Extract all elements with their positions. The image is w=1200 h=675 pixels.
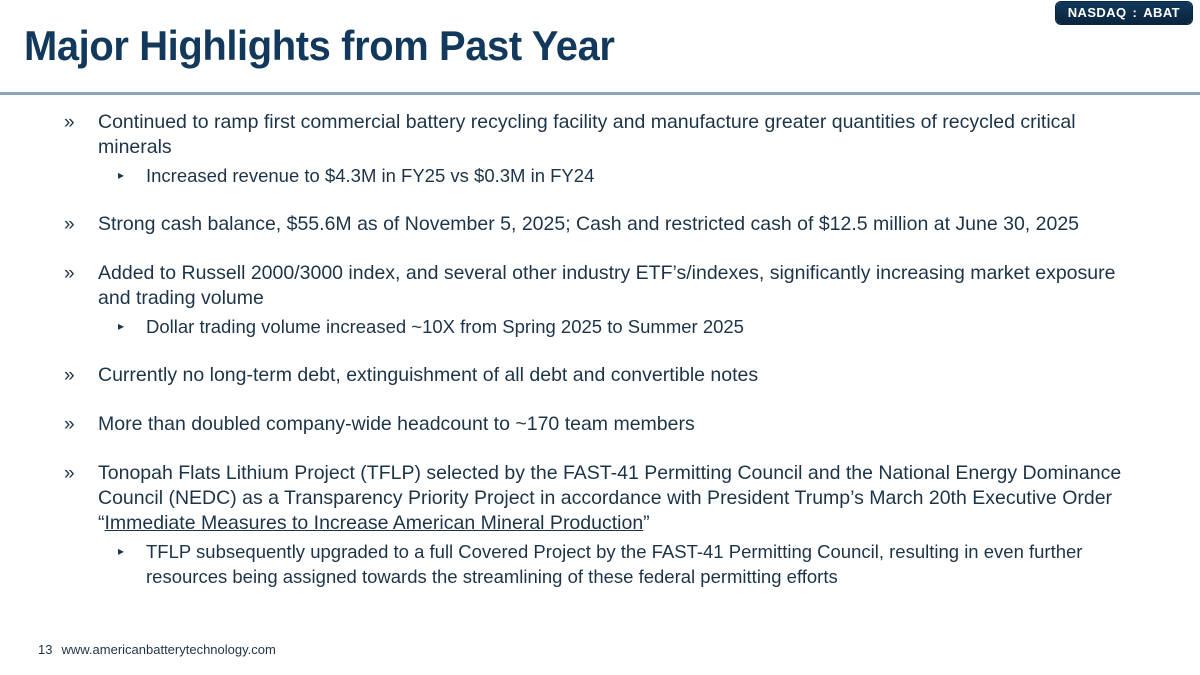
slide-footer: 13 www.americanbatterytechnology.com: [38, 642, 276, 657]
ticker-symbol-label: ABAT: [1143, 6, 1180, 19]
ticker-exchange-label: NASDAQ: [1068, 6, 1127, 19]
sub-bullet-text: TFLP subsequently upgraded to a full Cov…: [146, 539, 1152, 589]
bullet-text: Added to Russell 2000/3000 index, and se…: [98, 261, 1148, 311]
bullet-text: More than doubled company-wide headcount…: [98, 412, 695, 437]
spacer: [0, 188, 1200, 212]
bullet-marker-icon: »: [64, 461, 98, 486]
sub-bullet-text: Increased revenue to $4.3M in FY25 vs $0…: [146, 163, 594, 188]
bullet-item: » Added to Russell 2000/3000 index, and …: [0, 261, 1200, 339]
bullet-item: » More than doubled company-wide headcou…: [0, 412, 1200, 437]
website-label: www.americanbatterytechnology.com: [61, 642, 275, 657]
bullet-level1: » Strong cash balance, $55.6M as of Nove…: [0, 212, 1200, 237]
bullet-level2: ▸ TFLP subsequently upgraded to a full C…: [0, 539, 1200, 589]
bullet-level1: » Currently no long-term debt, extinguis…: [0, 363, 1200, 388]
ticker-badge: NASDAQ : ABAT: [1056, 2, 1192, 24]
bullet-item: » Strong cash balance, $55.6M as of Nove…: [0, 212, 1200, 237]
ticker-separator: :: [1132, 6, 1139, 19]
bullet-level1: » More than doubled company-wide headcou…: [0, 412, 1200, 437]
bullet-marker-icon: »: [64, 412, 98, 437]
bullet-marker-icon: »: [64, 363, 98, 388]
bullet-level1: » Added to Russell 2000/3000 index, and …: [0, 261, 1200, 311]
bullet-marker-icon: »: [64, 110, 98, 135]
bullet-text: Continued to ramp first commercial batte…: [98, 110, 1148, 160]
executive-order-title-link[interactable]: Immediate Measures to Increase American …: [105, 512, 644, 534]
bullet-text: Currently no long-term debt, extinguishm…: [98, 363, 758, 388]
sub-bullet-marker-icon: ▸: [118, 163, 146, 188]
spacer: [0, 237, 1200, 261]
spacer: [0, 339, 1200, 363]
page-number: 13: [38, 642, 52, 657]
spacer: [0, 437, 1200, 461]
spacer: [0, 388, 1200, 412]
bullet-text-tail: ”: [643, 512, 650, 534]
bullet-marker-icon: »: [64, 261, 98, 286]
bullet-marker-icon: »: [64, 212, 98, 237]
sub-bullet-marker-icon: ▸: [118, 314, 146, 339]
title-divider: [0, 92, 1200, 95]
bullet-item: » Currently no long-term debt, extinguis…: [0, 363, 1200, 388]
bullet-list: » Continued to ramp first commercial bat…: [0, 110, 1200, 589]
bullet-level1: » Continued to ramp first commercial bat…: [0, 110, 1200, 160]
bullet-text: Tonopah Flats Lithium Project (TFLP) sel…: [98, 461, 1148, 536]
sub-bullet-marker-icon: ▸: [118, 539, 146, 564]
bullet-text: Strong cash balance, $55.6M as of Novemb…: [98, 212, 1079, 237]
sub-bullet-text: Dollar trading volume increased ~10X fro…: [146, 314, 744, 339]
bullet-level1: » Tonopah Flats Lithium Project (TFLP) s…: [0, 461, 1200, 536]
bullet-level2: ▸ Dollar trading volume increased ~10X f…: [0, 314, 1200, 339]
bullet-item: » Continued to ramp first commercial bat…: [0, 110, 1200, 188]
bullet-level2: ▸ Increased revenue to $4.3M in FY25 vs …: [0, 163, 1200, 188]
bullet-item: » Tonopah Flats Lithium Project (TFLP) s…: [0, 461, 1200, 589]
page-title: Major Highlights from Past Year: [24, 22, 615, 70]
